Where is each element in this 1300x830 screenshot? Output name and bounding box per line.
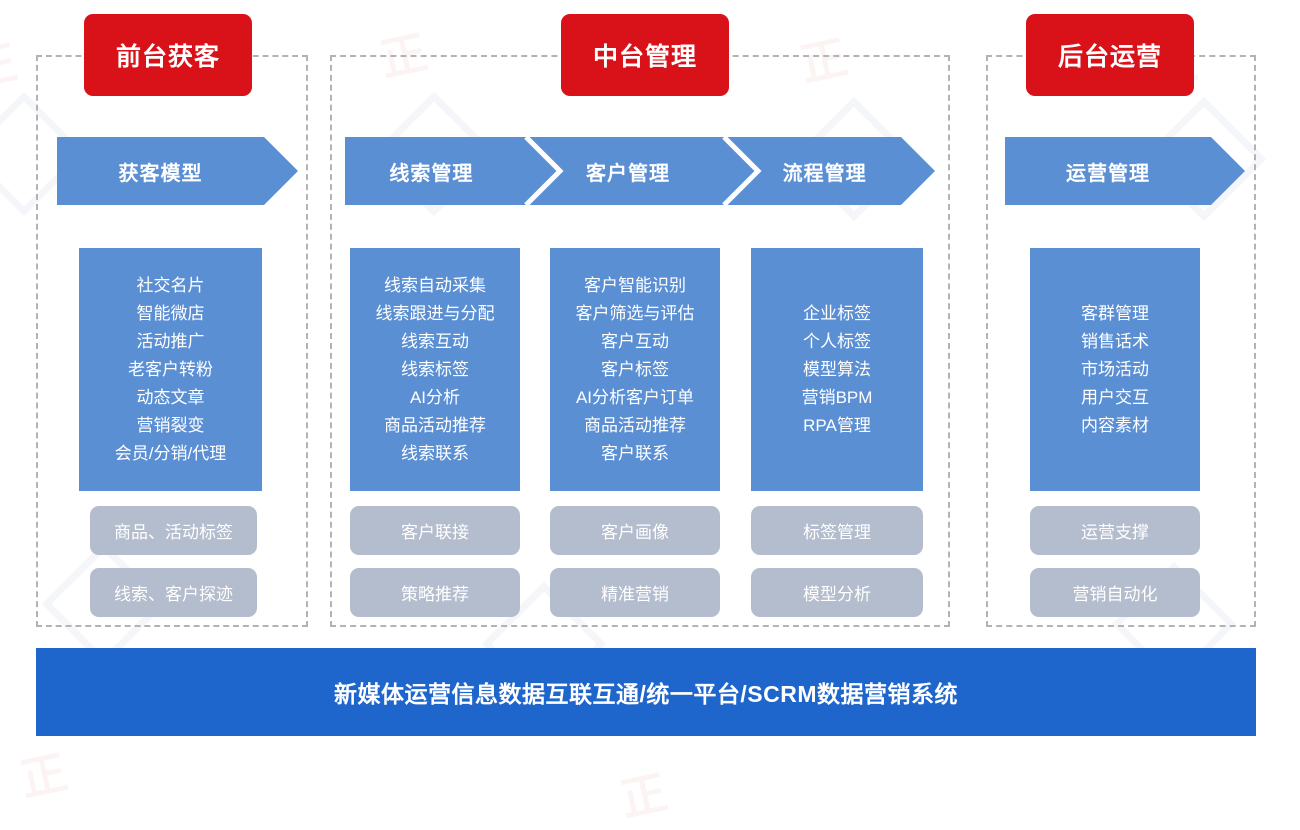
pill-front-office-2[interactable]: 线索、客户探迹: [90, 568, 257, 617]
arrow-shape-icon: [57, 137, 298, 205]
scrm-architecture-diagram: 前台获客 中台管理 后台运营 获客模型 线索管理 客户管理 流程管理: [0, 0, 1300, 826]
pill-lead-management-2[interactable]: 策略推荐: [350, 568, 520, 617]
feature-item: 会员/分销/代理: [115, 440, 226, 468]
pill-label: 客户画像: [601, 518, 669, 543]
feature-item: 个人标签: [803, 328, 871, 356]
pill-customer-management-1[interactable]: 客户画像: [550, 506, 720, 555]
feature-item: 动态文章: [137, 384, 205, 412]
feature-item: 企业标签: [803, 300, 871, 328]
feature-box-customer-management: 客户智能识别 客户筛选与评估 客户互动 客户标签 AI分析客户订单 商品活动推荐…: [550, 248, 720, 491]
feature-item: 营销BPM: [802, 384, 873, 412]
feature-item: 客户联系: [601, 440, 669, 468]
feature-item: 老客户转粉: [128, 356, 213, 384]
feature-item: 客户筛选与评估: [576, 300, 695, 328]
pill-label: 客户联接: [401, 518, 469, 543]
feature-item: 活动推广: [137, 328, 205, 356]
feature-box-lead-management: 线索自动采集 线索跟进与分配 线索互动 线索标签 AI分析 商品活动推荐 线索联…: [350, 248, 520, 491]
feature-item: 商品活动推荐: [584, 412, 686, 440]
pill-label: 商品、活动标签: [114, 518, 233, 543]
feature-item: 市场活动: [1081, 356, 1149, 384]
pill-process-management-2[interactable]: 模型分析: [751, 568, 923, 617]
pill-label: 精准营销: [601, 580, 669, 605]
badge-middle-office-label: 中台管理: [593, 37, 697, 73]
badge-front-office-label: 前台获客: [116, 37, 220, 73]
feature-item: 线索自动采集: [384, 272, 486, 300]
feature-item: 客群管理: [1081, 300, 1149, 328]
feature-box-back-office: 客群管理 销售话术 市场活动 用户交互 内容素材: [1030, 248, 1200, 491]
feature-item: 用户交互: [1081, 384, 1149, 412]
pill-front-office-1[interactable]: 商品、活动标签: [90, 506, 257, 555]
feature-item: 社交名片: [137, 272, 205, 300]
feature-item: RPA管理: [803, 412, 871, 440]
feature-item: 客户互动: [601, 328, 669, 356]
pill-process-management-1[interactable]: 标签管理: [751, 506, 923, 555]
badge-front-office[interactable]: 前台获客: [84, 14, 252, 96]
feature-item: 销售话术: [1081, 328, 1149, 356]
arrow-middle-office[interactable]: 线索管理 客户管理 流程管理: [345, 137, 935, 205]
pill-lead-management-1[interactable]: 客户联接: [350, 506, 520, 555]
feature-item: AI分析客户订单: [576, 384, 694, 412]
pill-label: 线索、客户探迹: [114, 580, 233, 605]
badge-back-office[interactable]: 后台运营: [1026, 14, 1194, 96]
feature-box-front-office: 社交名片 智能微店 活动推广 老客户转粉 动态文章 营销裂变 会员/分销/代理: [79, 248, 262, 491]
arrow-back-office[interactable]: 运营管理: [1005, 137, 1245, 205]
badge-back-office-label: 后台运营: [1058, 37, 1162, 73]
feature-item: 模型算法: [803, 356, 871, 384]
feature-item: 客户标签: [601, 356, 669, 384]
feature-item: 线索联系: [401, 440, 469, 468]
feature-item: 线索标签: [401, 356, 469, 384]
pill-back-office-1[interactable]: 运营支撑: [1030, 506, 1200, 555]
feature-item: 智能微店: [137, 300, 205, 328]
arrow-shape-icon: [1005, 137, 1245, 205]
feature-item: 内容素材: [1081, 412, 1149, 440]
feature-item: 客户智能识别: [584, 272, 686, 300]
feature-item: 营销裂变: [137, 412, 205, 440]
feature-item: 线索跟进与分配: [376, 300, 495, 328]
feature-box-process-management: 企业标签 个人标签 模型算法 营销BPM RPA管理: [751, 248, 923, 491]
arrow-chevron-shape-icon: [345, 137, 935, 205]
feature-item: AI分析: [410, 384, 460, 412]
arrow-front-office[interactable]: 获客模型: [57, 137, 298, 205]
platform-banner-label: 新媒体运营信息数据互联互通/统一平台/SCRM数据营销系统: [334, 675, 958, 709]
pill-label: 运营支撑: [1081, 518, 1149, 543]
pill-label: 模型分析: [803, 580, 871, 605]
badge-middle-office[interactable]: 中台管理: [561, 14, 729, 96]
pill-label: 标签管理: [803, 518, 871, 543]
feature-item: 商品活动推荐: [384, 412, 486, 440]
pill-customer-management-2[interactable]: 精准营销: [550, 568, 720, 617]
pill-label: 策略推荐: [401, 580, 469, 605]
pill-back-office-2[interactable]: 营销自动化: [1030, 568, 1200, 617]
pill-label: 营销自动化: [1073, 580, 1158, 605]
platform-banner: 新媒体运营信息数据互联互通/统一平台/SCRM数据营销系统: [36, 648, 1256, 736]
feature-item: 线索互动: [401, 328, 469, 356]
